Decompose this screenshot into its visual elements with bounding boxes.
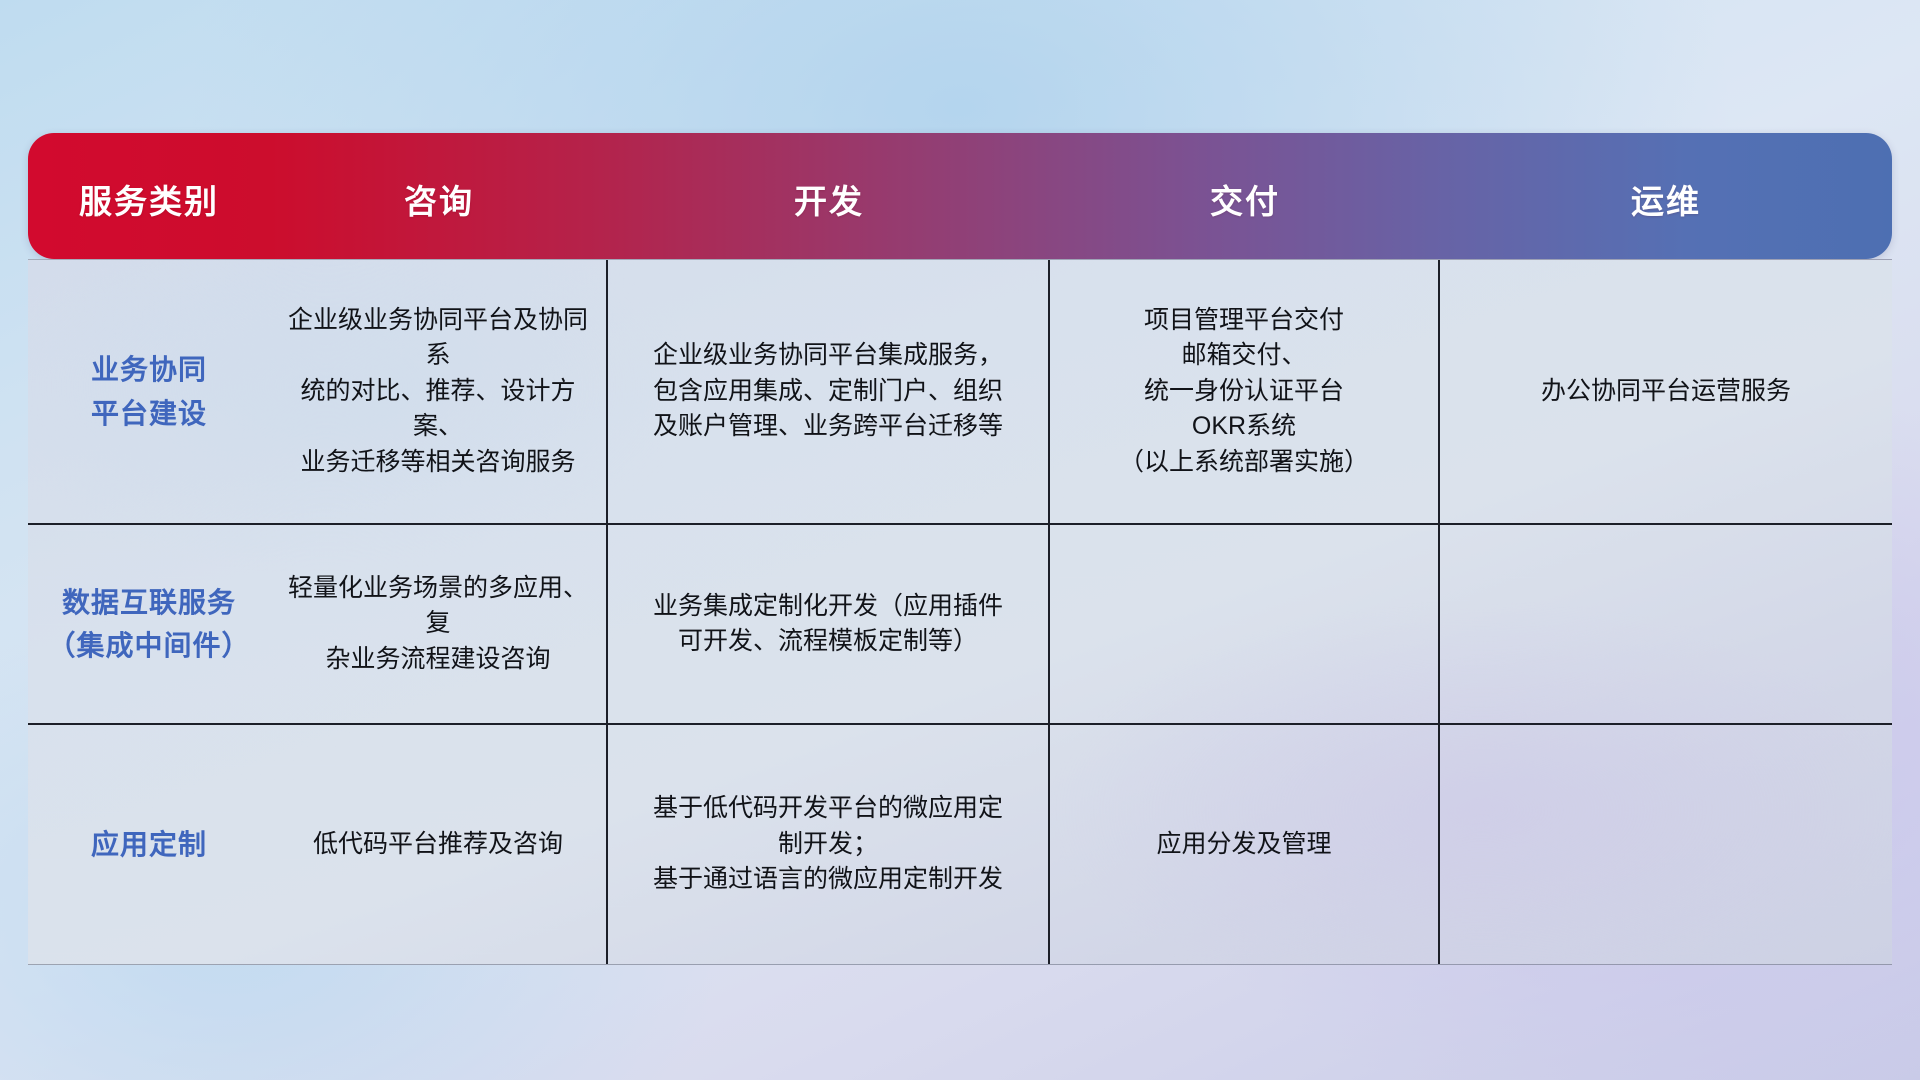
cell-development: 业务集成定制化开发（应用插件 可开发、流程模板定制等） <box>608 525 1050 723</box>
table-header-row: 服务类别 咨询 开发 交付 运维 <box>28 133 1892 259</box>
cell-delivery <box>1050 525 1440 723</box>
service-matrix-table: 服务类别 咨询 开发 交付 运维 业务协同 平台建设 企业级业务协同平台及协同系… <box>28 133 1892 965</box>
cell-consulting: 低代码平台推荐及咨询 <box>270 725 608 964</box>
slide-canvas: 服务类别 咨询 开发 交付 运维 业务协同 平台建设 企业级业务协同平台及协同系… <box>0 0 1920 1080</box>
row-category-label: 业务协同 平台建设 <box>28 260 270 523</box>
cell-development: 企业级业务协同平台集成服务， 包含应用集成、定制门户、组织 及账户管理、业务跨平… <box>608 260 1050 523</box>
cell-delivery: 项目管理平台交付 邮箱交付、 统一身份认证平台 OKR系统 （以上系统部署实施） <box>1050 260 1440 523</box>
table-row: 业务协同 平台建设 企业级业务协同平台及协同系 统的对比、推荐、设计方案、 业务… <box>28 260 1892 525</box>
cell-development: 基于低代码开发平台的微应用定 制开发； 基于通过语言的微应用定制开发 <box>608 725 1050 964</box>
cell-operations <box>1440 525 1892 723</box>
table-body: 业务协同 平台建设 企业级业务协同平台及协同系 统的对比、推荐、设计方案、 业务… <box>28 259 1892 965</box>
table-row: 数据互联服务 （集成中间件） 轻量化业务场景的多应用、复 杂业务流程建设咨询 业… <box>28 525 1892 725</box>
column-header-category: 服务类别 <box>28 133 270 259</box>
row-category-label: 应用定制 <box>28 725 270 964</box>
column-header-development: 开发 <box>608 133 1050 259</box>
column-header-operations: 运维 <box>1440 133 1892 259</box>
table-row: 应用定制 低代码平台推荐及咨询 基于低代码开发平台的微应用定 制开发； 基于通过… <box>28 725 1892 965</box>
column-header-delivery: 交付 <box>1050 133 1440 259</box>
cell-consulting: 企业级业务协同平台及协同系 统的对比、推荐、设计方案、 业务迁移等相关咨询服务 <box>270 260 608 523</box>
cell-delivery: 应用分发及管理 <box>1050 725 1440 964</box>
cell-operations: 办公协同平台运营服务 <box>1440 260 1892 523</box>
column-header-consulting: 咨询 <box>270 133 608 259</box>
row-category-label: 数据互联服务 （集成中间件） <box>28 525 270 723</box>
cell-consulting: 轻量化业务场景的多应用、复 杂业务流程建设咨询 <box>270 525 608 723</box>
cell-operations <box>1440 725 1892 964</box>
